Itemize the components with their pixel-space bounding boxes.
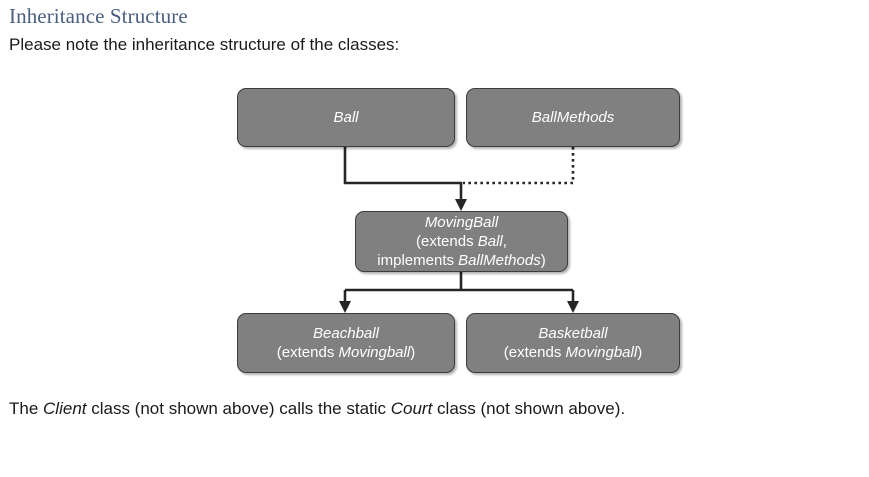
class-node-beachball-lines: Beachball(extends Movingball) xyxy=(238,324,454,362)
arrowhead-movingball-to-beachball xyxy=(339,301,351,313)
class-reference: Movingball xyxy=(338,344,410,361)
arrowhead-ball-to-movingball xyxy=(455,199,467,211)
class-node-ballmethods-lines: BallMethods xyxy=(467,108,679,127)
footer-part3: class (not shown above). xyxy=(432,399,625,418)
class-reference: Movingball xyxy=(565,344,637,361)
class-reference: BallMethods xyxy=(458,252,541,269)
footer-client-class: Client xyxy=(43,399,86,418)
class-node-basketball-line-1: Basketball xyxy=(473,324,673,343)
class-node-beachball-line-1: Beachball xyxy=(244,324,448,343)
intro-paragraph: Please note the inheritance structure of… xyxy=(9,34,399,56)
class-node-basketball[interactable]: Basketball(extends Movingball) xyxy=(466,313,680,373)
class-node-movingball-line-3: implements BallMethods) xyxy=(362,251,561,270)
page-title: Inheritance Structure xyxy=(9,3,188,29)
class-node-basketball-lines: Basketball(extends Movingball) xyxy=(467,324,679,362)
class-node-ball-line-1: Ball xyxy=(244,108,448,127)
arrowhead-movingball-to-basketball xyxy=(567,301,579,313)
footer-part2: class (not shown above) calls the static xyxy=(87,399,391,418)
class-node-ballmethods[interactable]: BallMethods xyxy=(466,88,680,147)
class-node-ballmethods-line-1: BallMethods xyxy=(473,108,673,127)
class-node-movingball-line-1: MovingBall xyxy=(362,213,561,232)
document-page: Inheritance Structure Please note the in… xyxy=(0,0,869,477)
class-node-ball[interactable]: Ball xyxy=(237,88,455,147)
class-node-beachball-line-2: (extends Movingball) xyxy=(244,343,448,362)
edge-ball-to-movingball xyxy=(345,147,461,203)
footer-paragraph: The Client class (not shown above) calls… xyxy=(9,398,625,420)
class-node-basketball-line-2: (extends Movingball) xyxy=(473,343,673,362)
footer-part1: The xyxy=(9,399,43,418)
class-node-beachball[interactable]: Beachball(extends Movingball) xyxy=(237,313,455,373)
footer-court-class: Court xyxy=(391,399,433,418)
class-node-ball-lines: Ball xyxy=(238,108,454,127)
edge-ballmethods-to-movingball xyxy=(463,147,573,183)
class-node-movingball[interactable]: MovingBall(extends Ball,implements BallM… xyxy=(355,211,568,272)
class-reference: Ball xyxy=(478,233,503,250)
class-node-movingball-line-2: (extends Ball, xyxy=(362,232,561,251)
class-node-movingball-lines: MovingBall(extends Ball,implements BallM… xyxy=(356,213,567,270)
